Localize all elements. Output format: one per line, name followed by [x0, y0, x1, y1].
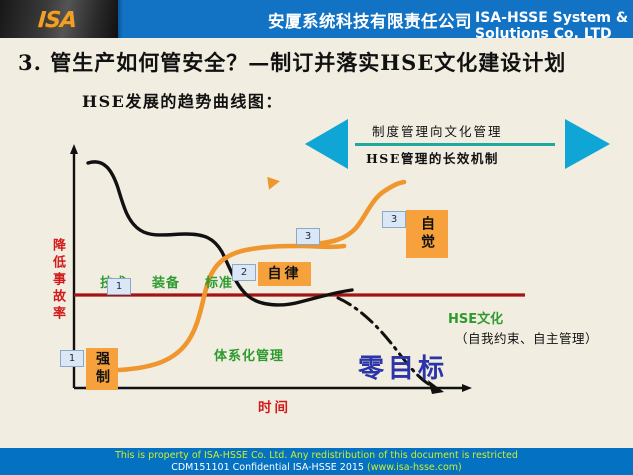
- label-zero-target: 零目标: [358, 348, 448, 385]
- slide-header: ISA 安厦系统科技有限责任公司 ISA-HSSE System & Solut…: [0, 0, 633, 38]
- page-subtitle: HSE发展的趋势曲线图：: [82, 88, 283, 112]
- page-title: 3. 管生产如何管安全？—制订并落实HSE文化建设计划: [18, 47, 566, 77]
- company-name-cn: 安厦系统科技有限责任公司: [268, 8, 472, 32]
- footer-line2: CDM151101 Confidential ISA-HSSE 2015 (ww…: [0, 462, 633, 473]
- header-title-bar: 安厦系统科技有限责任公司 ISA-HSSE System & Solutions…: [118, 0, 633, 38]
- slide-canvas: ISA 安厦系统科技有限责任公司 ISA-HSSE System & Solut…: [0, 0, 633, 475]
- callout-box-self-discipline: 自律: [258, 262, 311, 286]
- callout-box-self-awareness: 自觉: [406, 210, 448, 258]
- callout-box-compulsory: 强制: [86, 348, 118, 390]
- label-standard: 标准: [205, 272, 233, 291]
- label-hse-culture-sub: （自我约束、自主管理）: [455, 328, 598, 347]
- number-tag-1-axis: 1: [60, 350, 84, 367]
- x-axis-label: 时间: [258, 396, 291, 416]
- footer-confidential: CDM151101 Confidential ISA-HSSE 2015: [171, 462, 367, 473]
- number-tag-2: 2: [232, 264, 256, 281]
- y-axis-label: 降低事故率: [48, 238, 67, 323]
- label-system-management: 体系化管理: [214, 345, 284, 364]
- number-tag-3-system: 3: [296, 228, 320, 245]
- label-hse-culture: HSE文化: [448, 308, 503, 327]
- number-tag-1-baseline: 1: [107, 278, 131, 295]
- footer-line1: This is property of ISA-HSSE Co. Ltd. An…: [0, 450, 633, 461]
- header-logo-panel: ISA: [0, 0, 118, 38]
- number-tag-3: 3: [382, 211, 406, 228]
- label-equipment: 装备: [152, 272, 180, 291]
- isa-logo: ISA: [37, 8, 77, 33]
- maturity-arrowhead: [267, 175, 281, 190]
- company-name-en: ISA-HSSE System & Solutions Co. LTD: [475, 10, 633, 42]
- footer-website: (www.isa-hsse.com): [367, 462, 462, 473]
- slide-footer: This is property of ISA-HSSE Co. Ltd. An…: [0, 448, 633, 475]
